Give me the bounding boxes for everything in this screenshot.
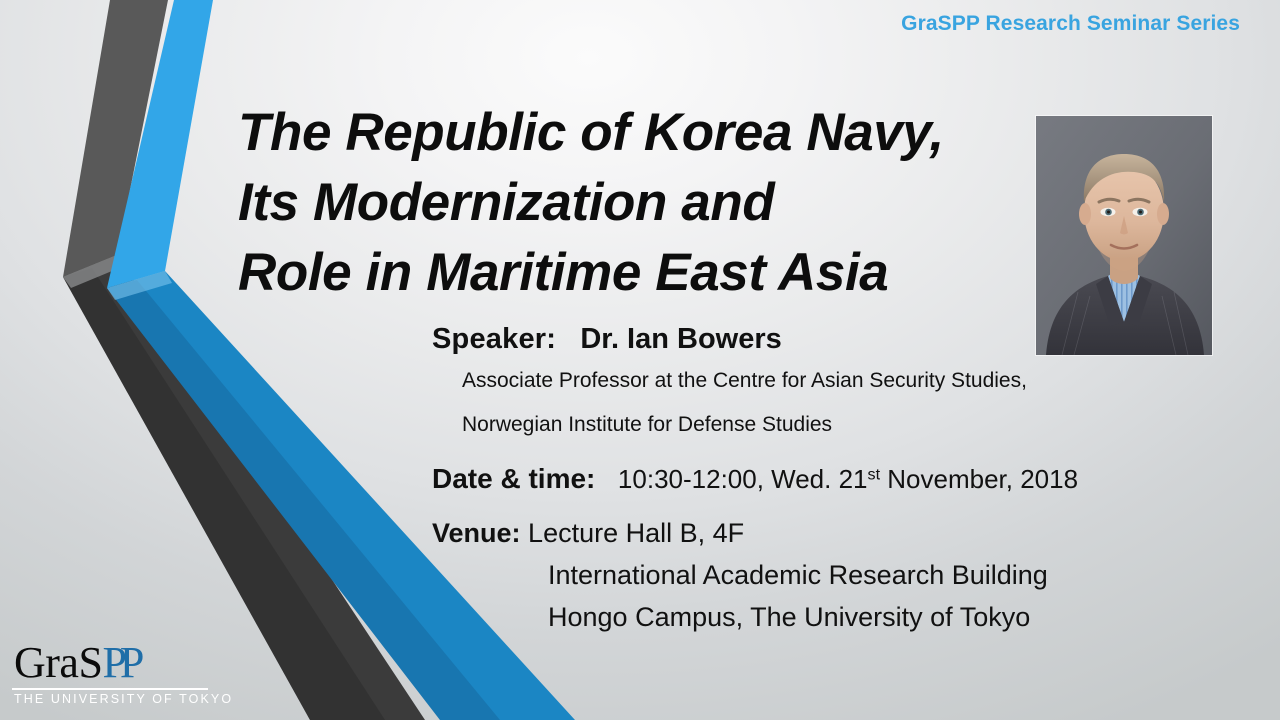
page-title: The Republic of Korea Navy, Its Moderniz… bbox=[238, 98, 1038, 309]
datetime-row: Date & time: 10:30-12:00, Wed. 21st Nove… bbox=[432, 465, 1262, 493]
graspp-logo-divider bbox=[12, 688, 208, 690]
datetime-value: 10:30-12:00, Wed. 21st November, 2018 bbox=[618, 464, 1078, 494]
venue-label: Venue: bbox=[432, 518, 521, 548]
datetime-value-pre: 10:30-12:00, Wed. 21 bbox=[618, 464, 868, 494]
title-line-3: Role in Maritime East Asia bbox=[238, 238, 1038, 308]
gray-ribbon-vertex-highlight bbox=[63, 255, 124, 288]
title-line-1: The Republic of Korea Navy, bbox=[238, 98, 1038, 168]
affiliation-line-2: Norwegian Institute for Defense Studies bbox=[462, 414, 1262, 435]
venue-block: Venue: Lecture Hall B, 4F International … bbox=[432, 520, 1262, 631]
speaker-name: Dr. Ian Bowers bbox=[580, 323, 781, 355]
graspp-logo-gras: GraS bbox=[14, 638, 102, 687]
affiliation-line-1: Associate Professor at the Centre for As… bbox=[462, 370, 1262, 391]
blue-ribbon-vertex-highlight bbox=[107, 271, 172, 300]
venue-line-3: Hongo Campus, The University of Tokyo bbox=[432, 604, 1262, 631]
seminar-poster-slide: GraSPP Research Seminar Series The Repub… bbox=[0, 0, 1280, 720]
graspp-logo-subtitle: THE UNIVERSITY OF TOKYO bbox=[12, 692, 208, 706]
seminar-details: Speaker: Dr. Ian Bowers Associate Profes… bbox=[432, 325, 1262, 631]
speaker-label: Speaker: bbox=[432, 323, 556, 355]
datetime-ordinal-suffix: st bbox=[868, 466, 881, 484]
speaker-row: Speaker: Dr. Ian Bowers bbox=[432, 325, 1262, 354]
title-line-2: Its Modernization and bbox=[238, 168, 1038, 238]
venue-value-1: Lecture Hall B, 4F bbox=[528, 518, 744, 548]
datetime-label: Date & time: bbox=[432, 463, 595, 494]
graspp-logo: GraSPP THE UNIVERSITY OF TOKYO bbox=[12, 641, 208, 706]
seminar-series-eyebrow: GraSPP Research Seminar Series bbox=[901, 12, 1240, 36]
graspp-logo-pp: PP bbox=[102, 638, 137, 687]
graspp-logo-wordmark: GraSPP bbox=[12, 641, 208, 685]
venue-line-2: International Academic Research Building bbox=[432, 562, 1262, 589]
speaker-affiliation: Associate Professor at the Centre for As… bbox=[462, 370, 1262, 435]
venue-value-2: International Academic Research Building bbox=[548, 560, 1048, 590]
blue-ribbon-upper bbox=[107, 0, 213, 288]
datetime-value-post: November, 2018 bbox=[880, 464, 1078, 494]
venue-value-3: Hongo Campus, The University of Tokyo bbox=[548, 602, 1030, 632]
speaker-photo bbox=[1036, 116, 1212, 355]
gray-ribbon-upper bbox=[63, 0, 168, 277]
venue-line-1: Venue: Lecture Hall B, 4F bbox=[432, 520, 1262, 547]
